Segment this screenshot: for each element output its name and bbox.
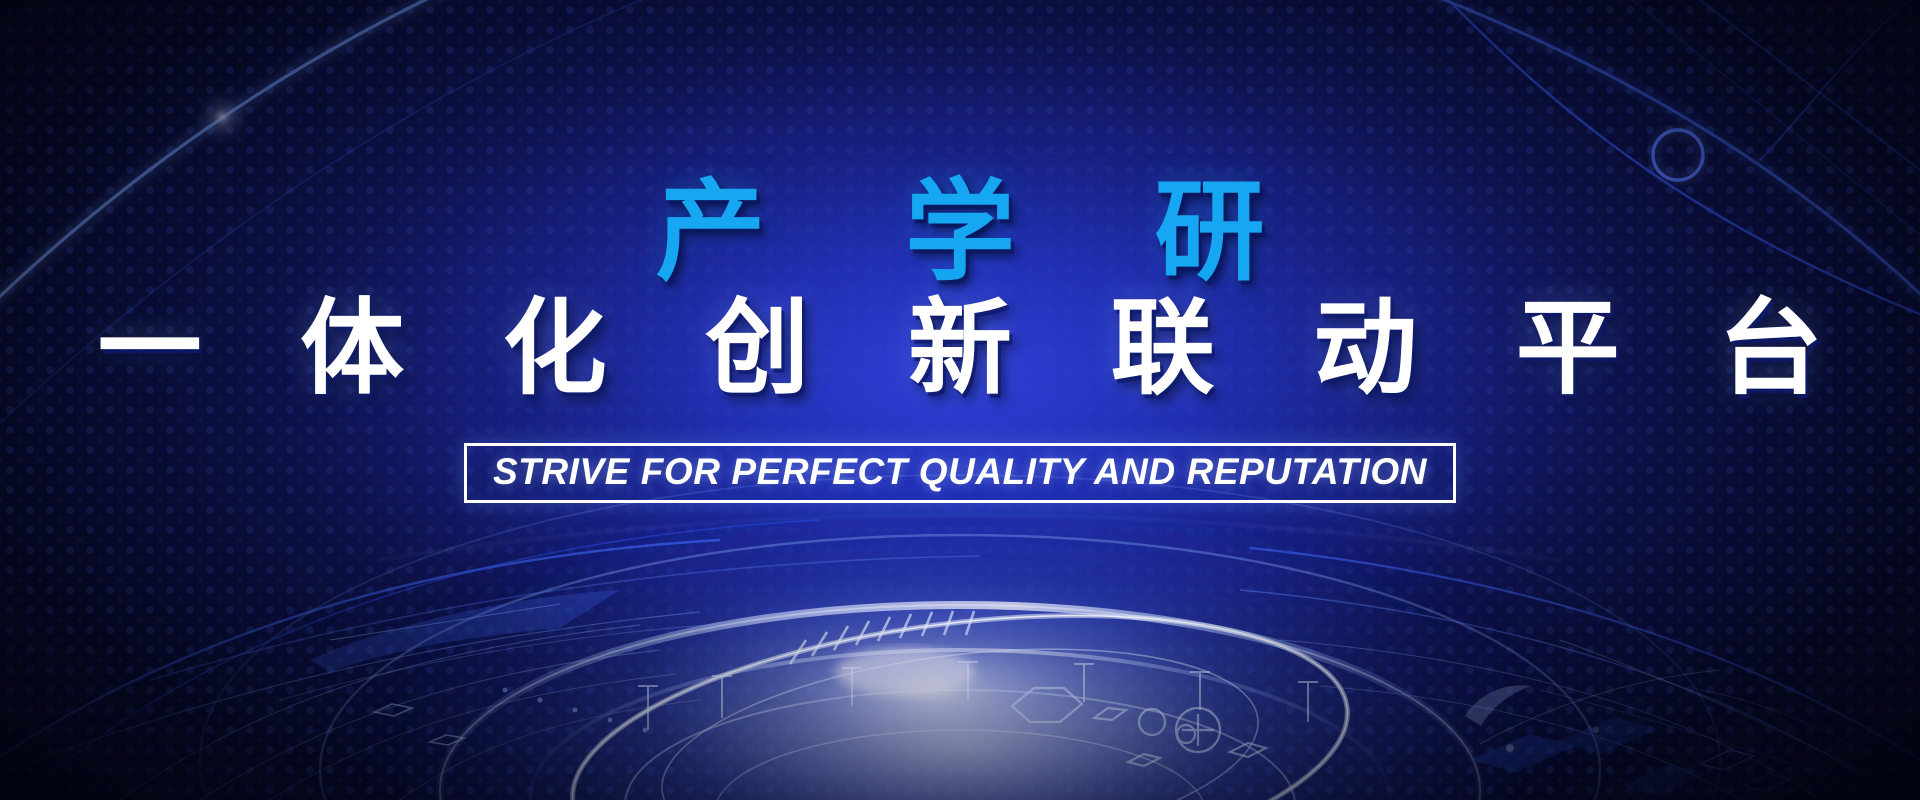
banner-title-line2: 一 体 化 创 新 联 动 平 台	[66, 294, 1853, 403]
banner-title-line1: 产 学 研	[605, 176, 1315, 288]
banner-text-content: 产 学 研 一 体 化 创 新 联 动 平 台 STRIVE FOR PERFE…	[0, 0, 1920, 800]
hero-banner: 产 学 研 一 体 化 创 新 联 动 平 台 STRIVE FOR PERFE…	[0, 0, 1920, 800]
banner-subtitle-text: STRIVE FOR PERFECT QUALITY AND REPUTATIO…	[493, 453, 1427, 490]
banner-subtitle-box: STRIVE FOR PERFECT QUALITY AND REPUTATIO…	[464, 443, 1456, 503]
